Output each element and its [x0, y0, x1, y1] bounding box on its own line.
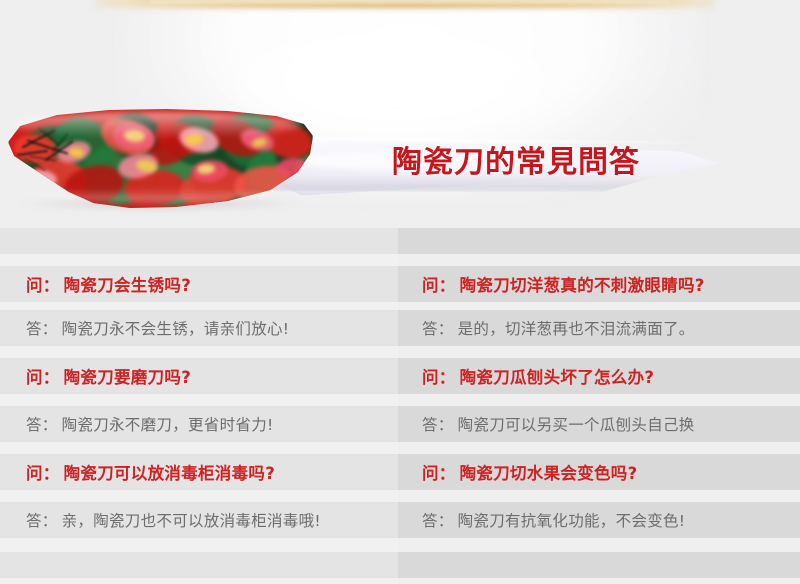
hero-product-photo: 陶瓷刀的常見問答 — [0, 0, 800, 228]
faq-question-text: 陶瓷刀切水果会变色吗? — [460, 460, 638, 484]
faq-answer-row: 答：亲，陶瓷刀也不可以放消毒柜消毒哦! — [0, 502, 424, 538]
page-root: 陶瓷刀的常見問答 问：陶瓷刀会生锈吗?答：陶瓷刀永不会生锈，请亲们放心!问：陶瓷… — [0, 0, 800, 584]
faq-question-text: 陶瓷刀要磨刀吗? — [64, 364, 191, 388]
faq-answer-text: 陶瓷刀永不会生锈，请亲们放心! — [62, 317, 290, 339]
knife-handle-gloss-top — [12, 112, 302, 138]
faq-answer-row: 答：陶瓷刀永不磨刀，更省时省力! — [0, 406, 424, 442]
faq-question-label: 问： — [26, 460, 60, 484]
faq-question-label: 问： — [422, 272, 456, 296]
faq-answer-text: 亲，陶瓷刀也不可以放消毒柜消毒哦! — [62, 509, 321, 531]
faq-answer-label: 答： — [422, 317, 454, 339]
faq-answer-text: 陶瓷刀有抗氧化功能，不会变色! — [458, 509, 686, 531]
faq-question-row: 问：陶瓷刀会生锈吗? — [0, 266, 424, 302]
faq-question-row: 问：陶瓷刀切洋葱真的不刺激眼睛吗? — [398, 266, 800, 302]
faq-answer-row: 答：陶瓷刀有抗氧化功能，不会变色! — [398, 502, 800, 538]
faq-question-label: 问： — [26, 364, 60, 388]
faq-question-row: 问：陶瓷刀切水果会变色吗? — [398, 454, 800, 490]
faq-question-label: 问： — [26, 272, 60, 296]
ceramic-knife-image — [0, 0, 800, 228]
faq-answer-row: 答：是的，切洋葱再也不泪流满面了。 — [398, 310, 800, 346]
faq-column-right: 问：陶瓷刀切洋葱真的不刺激眼睛吗?答：是的，切洋葱再也不泪流满面了。问：陶瓷刀瓜… — [398, 228, 800, 584]
faq-answer-text: 陶瓷刀可以另买一个瓜刨头自己换 — [458, 413, 695, 435]
faq-answer-label: 答： — [26, 317, 58, 339]
page-title: 陶瓷刀的常見問答 — [392, 137, 640, 181]
faq-answer-label: 答： — [422, 413, 454, 435]
faq-question-row: 问：陶瓷刀可以放消毒柜消毒吗? — [0, 454, 424, 490]
faq-question-row: 问：陶瓷刀要磨刀吗? — [0, 358, 424, 394]
faq-question-label: 问： — [422, 460, 456, 484]
faq-answer-label: 答： — [26, 509, 58, 531]
faq-answer-label: 答： — [422, 509, 454, 531]
faq-answer-row: 答：陶瓷刀永不会生锈，请亲们放心! — [0, 310, 424, 346]
faq-answer-text: 是的，切洋葱再也不泪流满面了。 — [458, 317, 695, 339]
faq-question-text: 陶瓷刀瓜刨头坏了怎么办? — [460, 364, 655, 388]
knife-drop-shadow — [20, 198, 300, 212]
faq-question-row: 问：陶瓷刀瓜刨头坏了怎么办? — [398, 358, 800, 394]
faq-rows-left: 问：陶瓷刀会生锈吗?答：陶瓷刀永不会生锈，请亲们放心!问：陶瓷刀要磨刀吗?答：陶… — [0, 228, 398, 584]
faq-section: 问：陶瓷刀会生锈吗?答：陶瓷刀永不会生锈，请亲们放心!问：陶瓷刀要磨刀吗?答：陶… — [0, 228, 800, 584]
faq-question-label: 问： — [422, 364, 456, 388]
faq-question-text: 陶瓷刀切洋葱真的不刺激眼睛吗? — [460, 272, 705, 296]
faq-answer-label: 答： — [26, 413, 58, 435]
faq-answer-row: 答：陶瓷刀可以另买一个瓜刨头自己换 — [398, 406, 800, 442]
faq-question-text: 陶瓷刀可以放消毒柜消毒吗? — [64, 460, 275, 484]
faq-answer-text: 陶瓷刀永不磨刀，更省时省力! — [62, 413, 274, 435]
faq-column-left: 问：陶瓷刀会生锈吗?答：陶瓷刀永不会生锈，请亲们放心!问：陶瓷刀要磨刀吗?答：陶… — [0, 228, 398, 584]
faq-question-text: 陶瓷刀会生锈吗? — [64, 272, 191, 296]
faq-rows-right: 问：陶瓷刀切洋葱真的不刺激眼睛吗?答：是的，切洋葱再也不泪流满面了。问：陶瓷刀瓜… — [398, 228, 800, 584]
